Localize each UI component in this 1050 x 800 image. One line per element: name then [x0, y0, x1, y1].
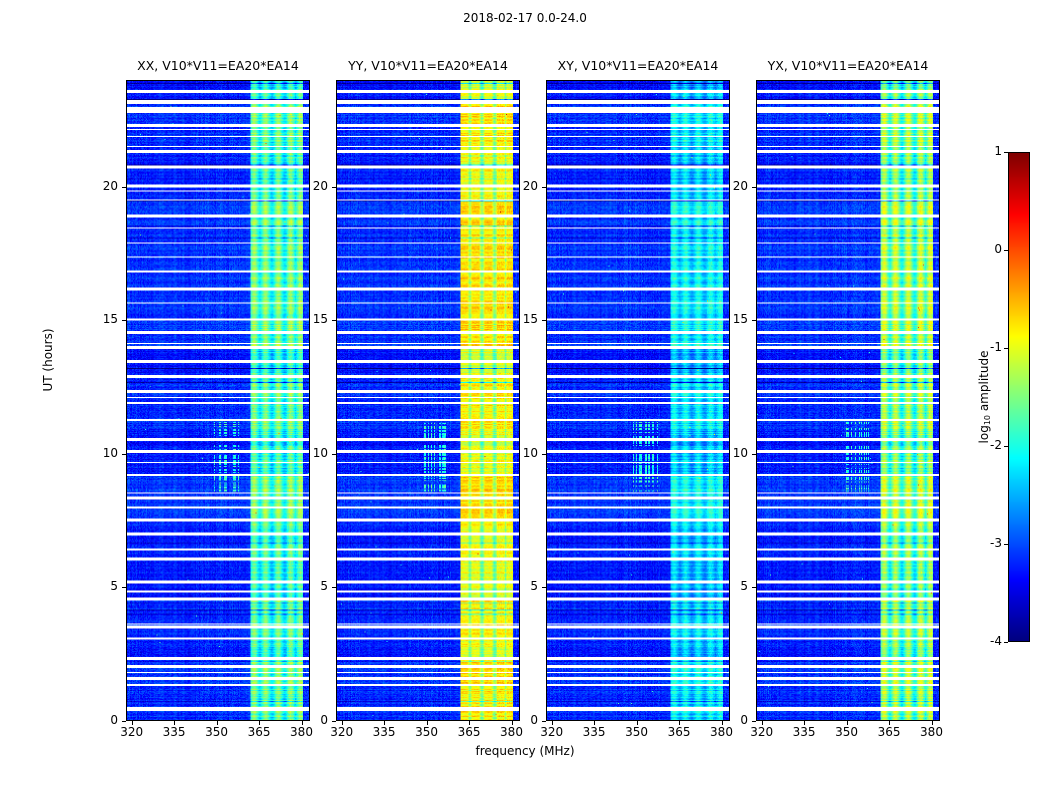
x-tick-mark [427, 721, 428, 725]
y-tick-label: 5 [84, 579, 118, 593]
y-tick-label: 20 [714, 179, 748, 193]
y-tick-label: 20 [504, 179, 538, 193]
x-tick-label: 320 [742, 725, 782, 739]
colorbar-tick-mark [1004, 250, 1008, 251]
colorbar-label: log10 amplitude [977, 351, 991, 444]
y-tick-mark [752, 454, 756, 455]
x-tick-label: 380 [282, 725, 322, 739]
colorbar-tick-label: 1 [972, 144, 1002, 158]
waterfall-panel-xy[interactable] [546, 80, 730, 721]
x-tick-mark [302, 721, 303, 725]
x-tick-mark [762, 721, 763, 725]
x-tick-label: 320 [532, 725, 572, 739]
x-tick-label: 350 [407, 725, 447, 739]
y-tick-mark [542, 187, 546, 188]
y-tick-mark [332, 454, 336, 455]
colorbar-tick-mark [1004, 544, 1008, 545]
x-tick-label: 350 [617, 725, 657, 739]
y-tick-label: 10 [84, 446, 118, 460]
panel-title-xx: XX, V10*V11=EA20*EA14 [126, 58, 310, 73]
x-tick-label: 320 [112, 725, 152, 739]
colorbar-tick-mark [1004, 446, 1008, 447]
x-tick-mark [932, 721, 933, 725]
x-tick-label: 350 [827, 725, 867, 739]
y-tick-label: 15 [714, 312, 748, 326]
x-tick-mark [679, 721, 680, 725]
colorbar-tick-mark [1004, 642, 1008, 643]
x-tick-mark [722, 721, 723, 725]
y-tick-mark [752, 587, 756, 588]
x-tick-label: 365 [869, 725, 909, 739]
y-tick-mark [752, 320, 756, 321]
waterfall-panel-yy[interactable] [336, 80, 520, 721]
y-tick-label: 5 [294, 579, 328, 593]
y-tick-label: 5 [504, 579, 538, 593]
x-tick-mark [384, 721, 385, 725]
x-tick-label: 335 [784, 725, 824, 739]
x-tick-mark [469, 721, 470, 725]
x-tick-mark [512, 721, 513, 725]
x-tick-mark [259, 721, 260, 725]
y-tick-mark [122, 587, 126, 588]
colorbar-tick-mark [1004, 152, 1008, 153]
x-tick-label: 365 [239, 725, 279, 739]
panel-title-yy: YY, V10*V11=EA20*EA14 [336, 58, 520, 73]
y-tick-mark [122, 454, 126, 455]
x-tick-mark [594, 721, 595, 725]
y-tick-mark [332, 320, 336, 321]
y-tick-mark [122, 320, 126, 321]
x-tick-label: 365 [449, 725, 489, 739]
x-tick-label: 380 [912, 725, 952, 739]
x-tick-mark [552, 721, 553, 725]
x-tick-mark [217, 721, 218, 725]
y-tick-mark [122, 187, 126, 188]
x-tick-label: 335 [574, 725, 614, 739]
x-tick-mark [637, 721, 638, 725]
x-tick-mark [889, 721, 890, 725]
y-tick-label: 20 [84, 179, 118, 193]
colorbar-label-prefix: log [977, 425, 991, 443]
colorbar-tick-mark [1004, 348, 1008, 349]
x-tick-label: 335 [364, 725, 404, 739]
figure-suptitle: 2018-02-17 0.0-24.0 [0, 11, 1050, 25]
x-tick-mark [132, 721, 133, 725]
y-tick-mark [332, 587, 336, 588]
y-tick-mark [122, 721, 126, 722]
colorbar-label-sub: 10 [983, 415, 992, 425]
figure-canvas: 2018-02-17 0.0-24.0 XX, V10*V11=EA20*EA1… [0, 0, 1050, 800]
panel-title-xy: XY, V10*V11=EA20*EA14 [546, 58, 730, 73]
y-tick-mark [752, 721, 756, 722]
y-tick-mark [542, 587, 546, 588]
y-tick-label: 15 [504, 312, 538, 326]
y-tick-mark [542, 721, 546, 722]
x-tick-label: 335 [154, 725, 194, 739]
waterfall-panel-yx[interactable] [756, 80, 940, 721]
y-tick-label: 5 [714, 579, 748, 593]
y-tick-mark [332, 721, 336, 722]
x-axis-label: frequency (MHz) [0, 744, 1050, 758]
colorbar-tick-label: -4 [972, 634, 1002, 648]
x-tick-mark [342, 721, 343, 725]
x-tick-mark [847, 721, 848, 725]
x-tick-mark [174, 721, 175, 725]
panel-title-yx: YX, V10*V11=EA20*EA14 [756, 58, 940, 73]
x-tick-label: 380 [702, 725, 742, 739]
y-tick-label: 15 [294, 312, 328, 326]
x-tick-label: 380 [492, 725, 532, 739]
colorbar[interactable] [1008, 152, 1030, 642]
y-tick-label: 15 [84, 312, 118, 326]
y-tick-label: 20 [294, 179, 328, 193]
x-tick-label: 320 [322, 725, 362, 739]
x-tick-label: 350 [197, 725, 237, 739]
y-tick-label: 10 [714, 446, 748, 460]
y-tick-mark [542, 320, 546, 321]
waterfall-panel-xx[interactable] [126, 80, 310, 721]
x-tick-mark [804, 721, 805, 725]
colorbar-label-suffix: amplitude [977, 351, 991, 415]
x-tick-label: 365 [659, 725, 699, 739]
colorbar-tick-label: 0 [972, 242, 1002, 256]
y-tick-label: 10 [294, 446, 328, 460]
y-tick-mark [542, 454, 546, 455]
colorbar-tick-label: -3 [972, 536, 1002, 550]
y-tick-mark [752, 187, 756, 188]
y-axis-label: UT (hours) [41, 328, 55, 391]
y-tick-mark [332, 187, 336, 188]
y-tick-label: 10 [504, 446, 538, 460]
